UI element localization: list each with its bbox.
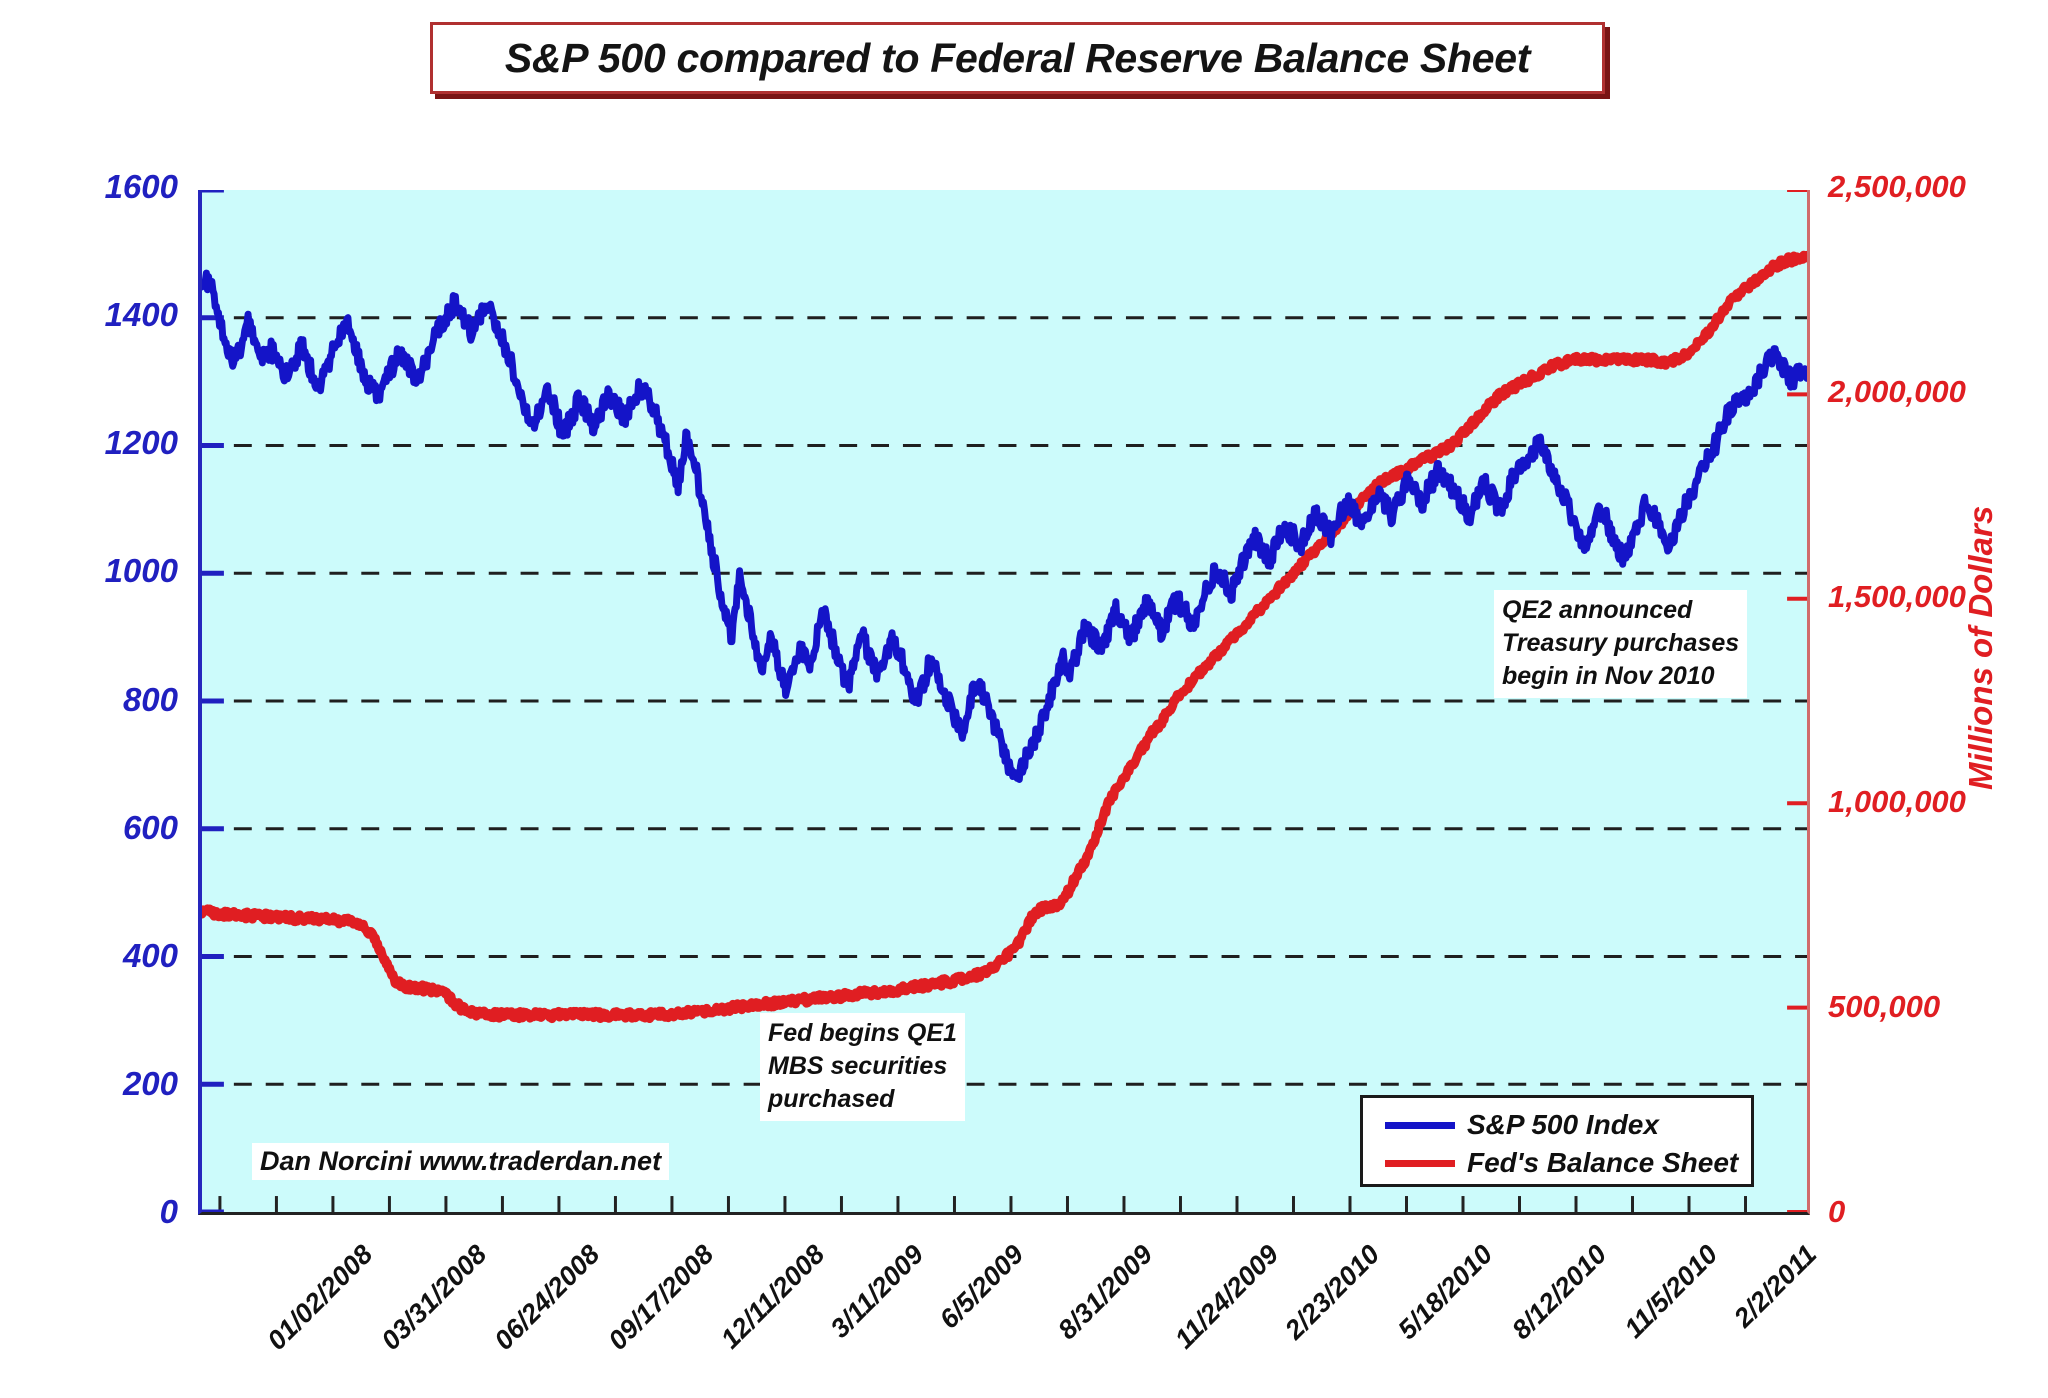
y-axis-left-tick-0: 0 bbox=[60, 1193, 178, 1231]
x-axis-tick-label: 5/18/2010 bbox=[1392, 1239, 1499, 1346]
y-axis-right-tick-2000000: 2,000,000 bbox=[1828, 374, 1966, 410]
annotation-qe2-line1: QE2 announced bbox=[1502, 594, 1739, 627]
x-axis-tick-label: 09/17/2008 bbox=[602, 1239, 719, 1356]
x-axis-tick-label: 2/23/2010 bbox=[1279, 1239, 1386, 1346]
page-title: S&P 500 compared to Federal Reserve Bala… bbox=[505, 35, 1530, 82]
x-axis-tick-label: 11/24/2009 bbox=[1169, 1239, 1285, 1355]
series-line-sp500 bbox=[202, 273, 1807, 779]
legend-label-sp500: S&P 500 Index bbox=[1467, 1109, 1659, 1141]
x-axis-tick-label: 8/31/2009 bbox=[1052, 1239, 1159, 1346]
x-axis-tick-label: 3/11/2009 bbox=[824, 1239, 929, 1344]
plot-area bbox=[198, 190, 1810, 1215]
y-axis-left-tick-400: 400 bbox=[60, 937, 178, 975]
y-axis-left-tick-200: 200 bbox=[60, 1065, 178, 1103]
y-axis-left-title: S&P 500 bbox=[0, 501, 2, 640]
x-axis-tick-label: 2/2/2011 bbox=[1728, 1239, 1823, 1334]
y-axis-left-tick-1600: 1600 bbox=[60, 168, 178, 206]
chart-legend: S&P 500 Index Fed's Balance Sheet bbox=[1360, 1095, 1754, 1187]
x-axis-tick-label: 8/12/2010 bbox=[1506, 1239, 1613, 1346]
y-axis-left-tick-1200: 1200 bbox=[60, 424, 178, 462]
annotation-qe2: QE2 announced Treasury purchases begin i… bbox=[1494, 590, 1747, 698]
y-axis-right-tick-1500000: 1,500,000 bbox=[1828, 579, 1966, 615]
x-axis-tick-label: 11/5/2010 bbox=[1619, 1239, 1724, 1344]
legend-item-sp500: S&P 500 Index bbox=[1363, 1106, 1751, 1144]
y-axis-right-tick-0: 0 bbox=[1828, 1194, 1845, 1230]
annotation-qe1: Fed begins QE1 MBS securities purchased bbox=[760, 1013, 965, 1121]
legend-item-fed-balance-sheet: Fed's Balance Sheet bbox=[1363, 1144, 1751, 1182]
x-axis-tick-label: 6/5/2009 bbox=[934, 1239, 1030, 1335]
annotation-qe1-line2: MBS securities bbox=[768, 1050, 957, 1083]
y-axis-left-tick-1400: 1400 bbox=[60, 296, 178, 334]
y-axis-right-tick-1000000: 1,000,000 bbox=[1828, 784, 1966, 820]
x-axis-tick-label: 03/31/2008 bbox=[375, 1239, 492, 1356]
y-axis-right-tick-2500000: 2,500,000 bbox=[1828, 169, 1966, 205]
y-axis-right-tick-500000: 500,000 bbox=[1828, 989, 1940, 1025]
y-axis-left-tick-600: 600 bbox=[60, 809, 178, 847]
x-axis-tick-label: 01/02/2008 bbox=[262, 1239, 379, 1356]
chart-title-box: S&P 500 compared to Federal Reserve Bala… bbox=[430, 22, 1605, 94]
annotation-qe1-line3: purchased bbox=[768, 1083, 957, 1116]
annotation-qe2-line2: Treasury purchases bbox=[1502, 627, 1739, 660]
legend-swatch-sp500 bbox=[1385, 1122, 1455, 1129]
x-axis-tick-label: 12/11/2008 bbox=[715, 1239, 831, 1355]
annotation-qe1-line1: Fed begins QE1 bbox=[768, 1017, 957, 1050]
legend-swatch-fed-balance-sheet bbox=[1385, 1160, 1455, 1167]
chart-canvas bbox=[202, 190, 1807, 1212]
x-axis-tick-label: 06/24/2008 bbox=[489, 1239, 606, 1356]
legend-label-fed-balance-sheet: Fed's Balance Sheet bbox=[1467, 1147, 1738, 1179]
y-axis-right-title: Millions of Dollars bbox=[1962, 506, 2000, 790]
attribution-text: Dan Norcini www.traderdan.net bbox=[252, 1143, 669, 1180]
chart-page: S&P 500 compared to Federal Reserve Bala… bbox=[0, 0, 2048, 1398]
annotation-qe2-line3: begin in Nov 2010 bbox=[1502, 660, 1739, 693]
y-axis-left-tick-1000: 1000 bbox=[60, 552, 178, 590]
gridlines bbox=[202, 190, 1807, 1212]
y-axis-left-tick-800: 800 bbox=[60, 681, 178, 719]
